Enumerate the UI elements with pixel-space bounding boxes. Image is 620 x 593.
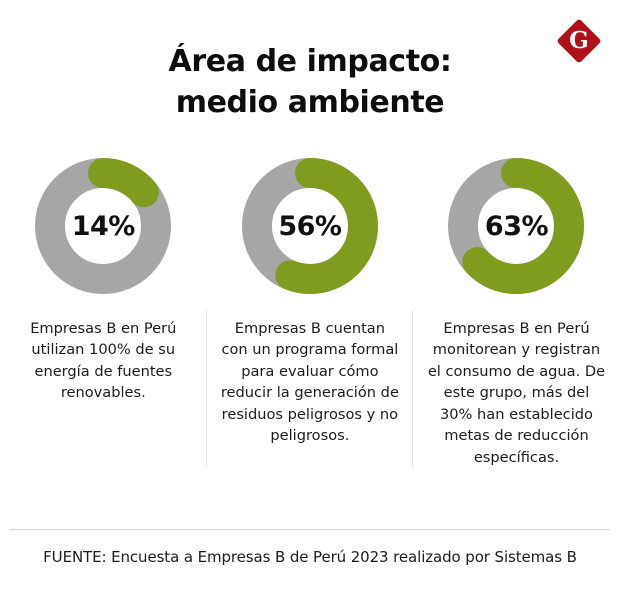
donut-chart-3: 63% [448,158,584,294]
page-title-line-2: medio ambiente [70,83,550,124]
donut-caption: Empresas B cuentan con un programa forma… [207,318,414,447]
source-note: FUENTE: Encuesta a Empresas B de Perú 20… [0,548,620,566]
donut-caption: Empresas B en Perú monitorean y registra… [413,318,620,468]
page-title: Área de impacto: medio ambiente [0,42,620,124]
donut-chart-1: 14% [35,158,171,294]
page-title-line-1: Área de impacto: [70,42,550,83]
donut-percentage-label: 14% [35,158,171,294]
donut-card: 56% Empresas B cuentan con un programa f… [207,125,414,447]
footer-divider [10,529,610,530]
donut-caption: Empresas B en Perú utilizan 100% de su e… [0,318,207,404]
footer: FUENTE: Encuesta a Empresas B de Perú 20… [0,515,620,593]
gestion-logo-icon: G [556,18,602,64]
donut-card-row: 14% Empresas B en Perú utilizan 100% de … [0,125,620,468]
header: Área de impacto: medio ambiente G [0,0,620,125]
donut-card: 14% Empresas B en Perú utilizan 100% de … [0,125,207,404]
donut-percentage-label: 56% [242,158,378,294]
donut-percentage-label: 63% [448,158,584,294]
donut-chart-2: 56% [242,158,378,294]
logo-letter: G [556,18,602,64]
donut-card: 63% Empresas B en Perú monitorean y regi… [413,125,620,468]
